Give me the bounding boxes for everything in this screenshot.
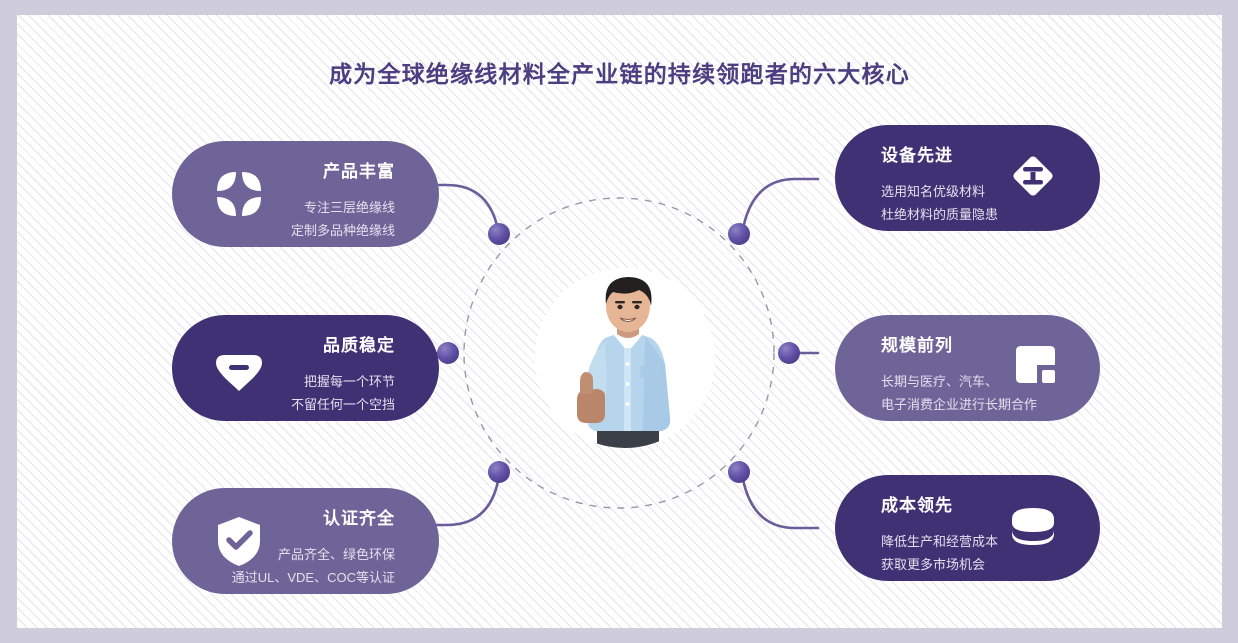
- feature-card-cost-leading[interactable]: 成本领先 降低生产和经营成本 获取更多市场机会: [835, 475, 1100, 581]
- orbit-dot-4: [728, 223, 750, 245]
- card-line-2: 不留任何一个空挡: [291, 393, 395, 416]
- card-title: 品质稳定: [291, 335, 395, 357]
- diamond-equal-icon: [1006, 149, 1060, 203]
- card-line-2: 获取更多市场机会: [881, 553, 998, 576]
- orbit-dot-1: [488, 223, 510, 245]
- four-petal-flower-icon: [212, 167, 266, 221]
- card-title: 成本领先: [881, 495, 998, 517]
- card-line-1: 把握每一个环节: [291, 370, 395, 393]
- card-line-2: 通过UL、VDE、COC等认证: [232, 566, 395, 589]
- card-title: 产品丰富: [291, 161, 395, 183]
- feature-card-certification[interactable]: 认证齐全 产品齐全、绿色环保 通过UL、VDE、COC等认证: [172, 488, 439, 594]
- card-title: 设备先进: [881, 145, 998, 167]
- orbit-dot-5: [778, 342, 800, 364]
- card-text-block: 产品丰富 专注三层绝缘线 定制多品种绝缘线: [291, 161, 395, 242]
- card-line-1: 专注三层绝缘线: [291, 196, 395, 219]
- gem-minus-icon: [212, 341, 266, 395]
- card-text-block: 成本领先 降低生产和经营成本 获取更多市场机会: [881, 495, 998, 576]
- card-line-2: 电子消费企业进行长期合作: [881, 393, 1037, 416]
- card-title: 认证齐全: [232, 508, 395, 530]
- orbit-dot-2: [437, 342, 459, 364]
- card-line-2: 定制多品种绝缘线: [291, 219, 395, 242]
- card-title: 规模前列: [881, 335, 1037, 357]
- feature-card-quality-stable[interactable]: 品质稳定 把握每一个环节 不留任何一个空挡: [172, 315, 439, 421]
- orbit-dot-6: [728, 461, 750, 483]
- card-text-block: 品质稳定 把握每一个环节 不留任何一个空挡: [291, 335, 395, 416]
- card-line-1: 产品齐全、绿色环保: [232, 543, 395, 566]
- coin-stack-icon: [1006, 499, 1060, 553]
- card-line-1: 选用知名优级材料: [881, 180, 998, 203]
- card-text-block: 认证齐全 产品齐全、绿色环保 通过UL、VDE、COC等认证: [232, 508, 395, 589]
- connector-card-4: [742, 179, 818, 234]
- orbit-dot-3: [488, 461, 510, 483]
- card-text-block: 设备先进 选用知名优级材料 杜绝材料的质量隐患: [881, 145, 998, 226]
- content-panel: 成为全球绝缘线材料全产业链的持续领跑者的六大核心: [17, 15, 1222, 628]
- connector-card-6: [742, 474, 818, 528]
- infographic-stage: 成为全球绝缘线材料全产业链的持续领跑者的六大核心: [0, 0, 1238, 643]
- feature-card-advanced-equipment[interactable]: 设备先进 选用知名优级材料 杜绝材料的质量隐患: [835, 125, 1100, 231]
- card-text-block: 规模前列 长期与医疗、汽车、 电子消费企业进行长期合作: [881, 335, 1037, 416]
- card-line-1: 长期与医疗、汽车、: [881, 370, 1037, 393]
- center-photo: [535, 268, 715, 448]
- feature-card-product-rich[interactable]: 产品丰富 专注三层绝缘线 定制多品种绝缘线: [172, 141, 439, 247]
- card-line-1: 降低生产和经营成本: [881, 530, 998, 553]
- page-title: 成为全球绝缘线材料全产业链的持续领跑者的六大核心: [17, 55, 1222, 89]
- card-line-2: 杜绝材料的质量隐患: [881, 203, 998, 226]
- feature-card-scale-leading[interactable]: 规模前列 长期与医疗、汽车、 电子消费企业进行长期合作: [835, 315, 1100, 421]
- person-thumbs-up-illustration: [535, 268, 715, 448]
